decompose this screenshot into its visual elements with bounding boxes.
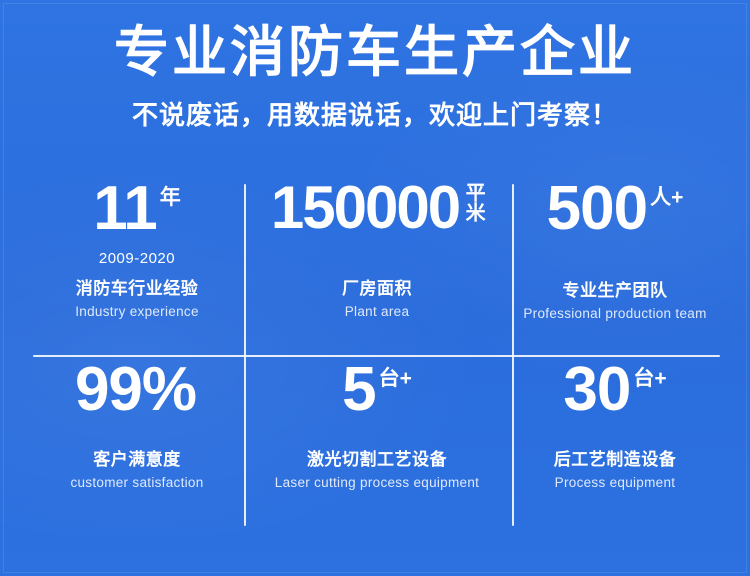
stat-label-en: Process equipment xyxy=(555,475,676,490)
stat-figure: 5 台+ xyxy=(342,360,412,421)
banner-header: 专业消防车生产企业 不说废话，用数据说话，欢迎上门考察！ xyxy=(0,0,750,131)
stat-label-en: Professional production team xyxy=(523,306,706,321)
stat-label-en: Plant area xyxy=(345,304,410,319)
stat-label-en: Laser cutting process equipment xyxy=(275,475,479,490)
stats-grid: 11 年 2009-2020 消防车行业经验 Industry experien… xyxy=(31,165,719,507)
page-subtitle: 不说废话，用数据说话，欢迎上门考察！ xyxy=(0,100,750,131)
stat-label-en: Industry experience xyxy=(75,304,199,319)
stat-label-cn: 后工艺制造设备 xyxy=(554,445,677,470)
stat-cell-plant-area: 150000 平米 厂房面积 Plant area xyxy=(243,165,511,336)
stat-suffix: 台+ xyxy=(379,368,412,389)
stat-number: 150000 xyxy=(271,179,459,238)
stat-cell-production-team: 500 人+ 专业生产团队 Professional production te… xyxy=(511,165,719,336)
stat-label-cn: 消防车行业经验 xyxy=(76,274,199,299)
stat-suffix: 台+ xyxy=(633,368,666,389)
grid-divider-vertical-right xyxy=(512,184,514,526)
stat-suffix: 人+ xyxy=(650,187,683,208)
stat-suffix: 平米 xyxy=(462,182,483,222)
stat-number: 500 xyxy=(547,179,647,240)
stat-number: 30 xyxy=(563,360,630,421)
stat-cell-customer-satisfaction: 99% 客户满意度 customer satisfaction xyxy=(31,336,243,507)
stat-number: 5 xyxy=(342,360,375,421)
stat-cell-laser-cutting-equipment: 5 台+ 激光切割工艺设备 Laser cutting process equi… xyxy=(243,336,511,507)
stat-label-cn: 专业生产团队 xyxy=(563,276,668,301)
grid-divider-horizontal xyxy=(33,355,720,357)
stat-figure: 500 人+ xyxy=(547,179,684,240)
stat-suffix-line-1: 平米 xyxy=(462,182,483,222)
stat-cell-industry-experience: 11 年 2009-2020 消防车行业经验 Industry experien… xyxy=(31,165,243,336)
stat-figure: 30 台+ xyxy=(563,360,666,421)
stat-label-en: customer satisfaction xyxy=(70,475,203,490)
stat-label-cn: 激光切割工艺设备 xyxy=(307,445,447,470)
stat-number: 99% xyxy=(75,360,196,421)
stat-period: 2009-2020 xyxy=(99,250,175,267)
stat-label-cn: 厂房面积 xyxy=(342,274,412,299)
grid-divider-vertical-left xyxy=(244,184,246,526)
page-title: 专业消防车生产企业 xyxy=(0,22,750,84)
promo-banner: 专业消防车生产企业 不说废话，用数据说话，欢迎上门考察！ 11 年 2009-2… xyxy=(0,0,750,576)
stat-figure: 11 年 xyxy=(93,179,181,240)
stat-figure: 150000 平米 xyxy=(271,179,483,238)
stat-cell-process-equipment: 30 台+ 后工艺制造设备 Process equipment xyxy=(511,336,719,507)
stat-figure: 99% xyxy=(75,360,199,421)
stat-label-cn: 客户满意度 xyxy=(93,445,181,470)
stat-suffix: 年 xyxy=(160,187,181,208)
stat-number: 11 xyxy=(93,179,157,240)
